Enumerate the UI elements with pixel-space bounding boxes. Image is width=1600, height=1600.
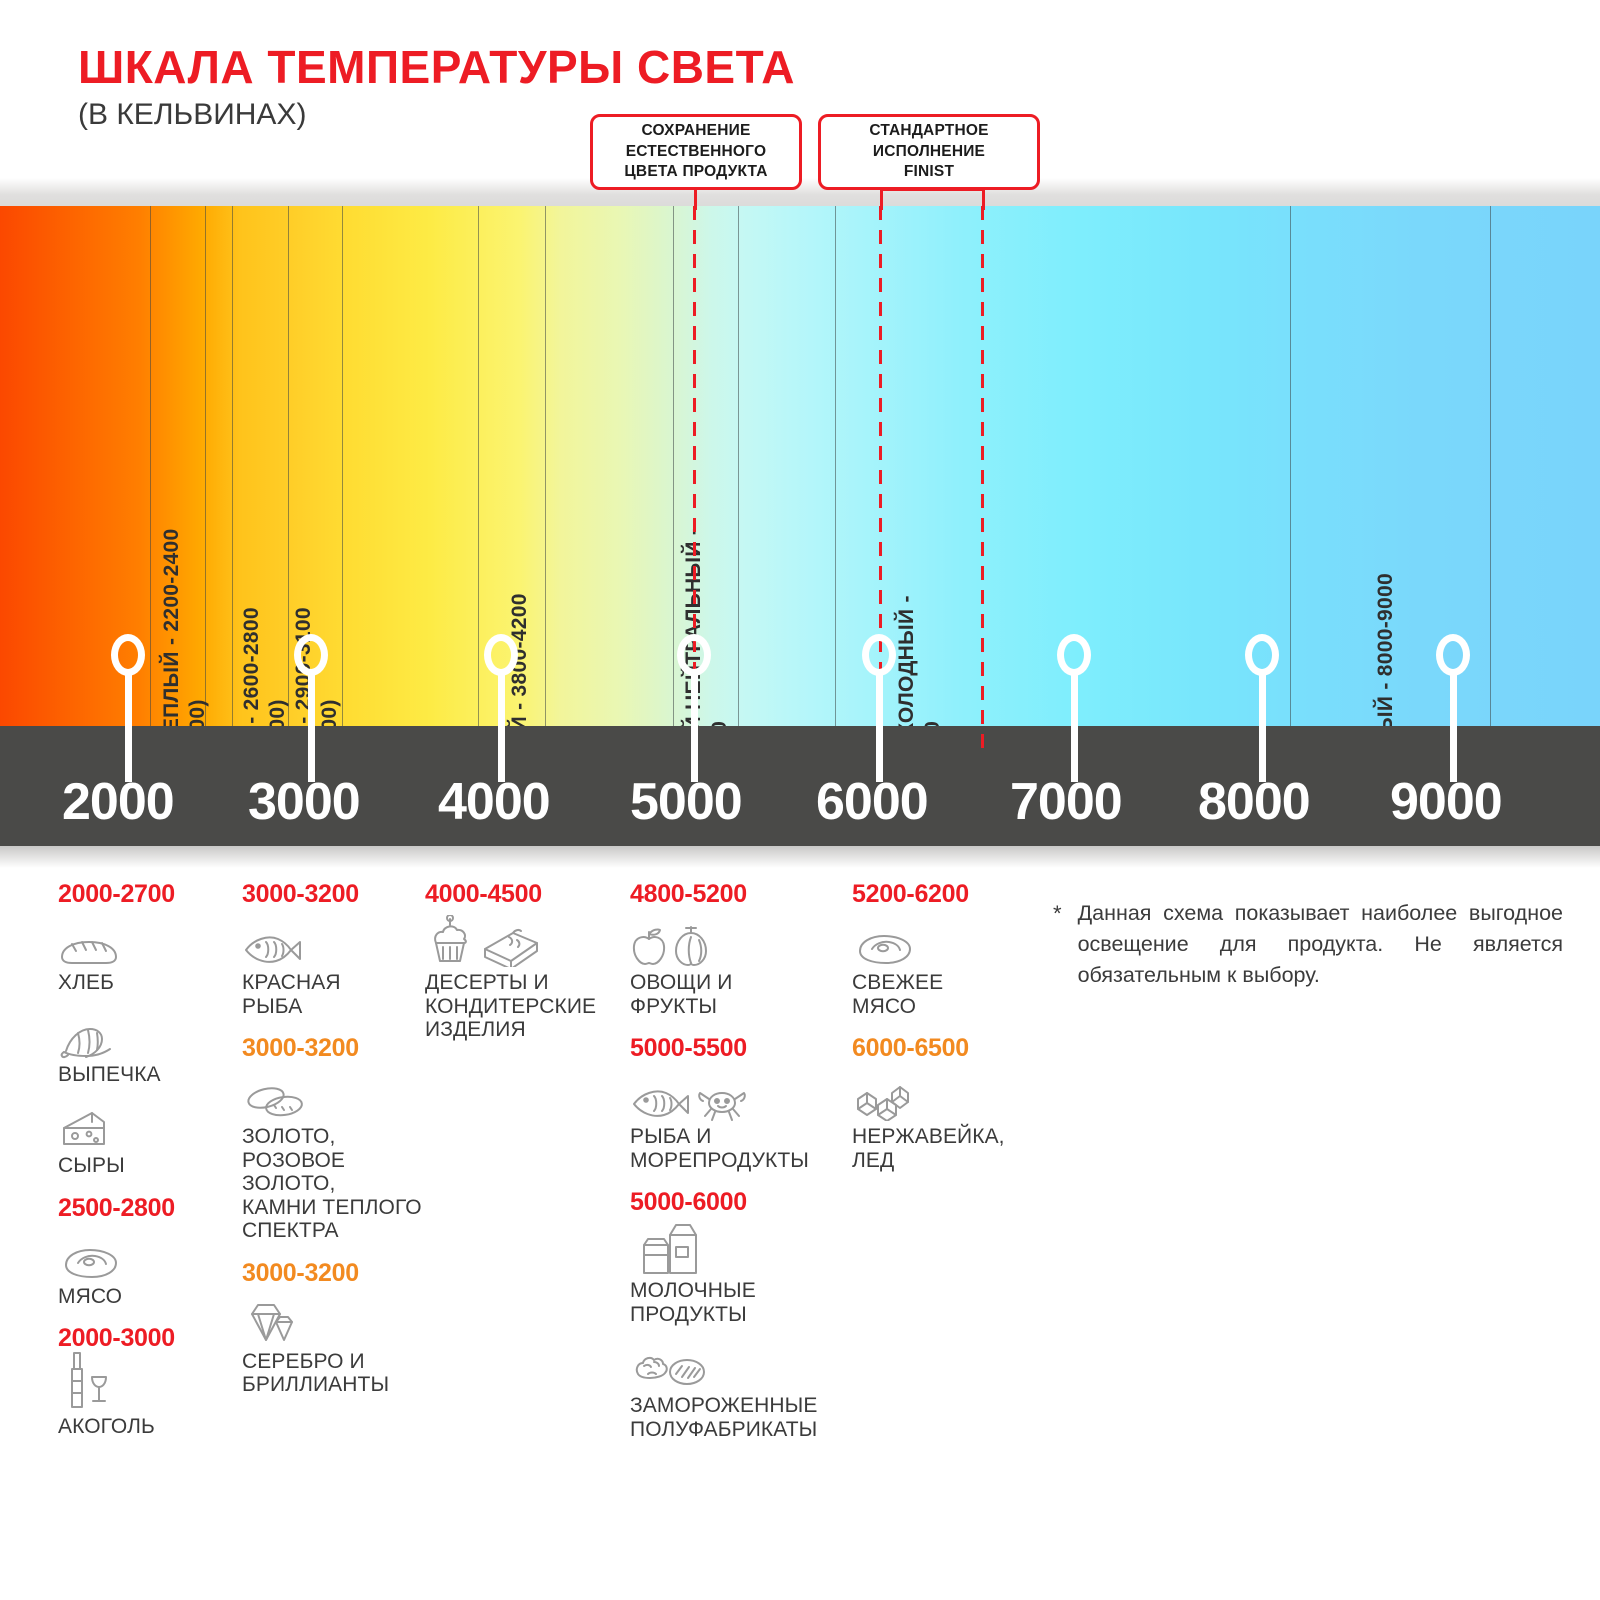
legend-group: 4000-4500ДЕСЕРТЫ И КОНДИТЕРСКИЕ ИЗДЕЛИЯ bbox=[425, 880, 625, 1042]
legend-item-icons bbox=[630, 1073, 855, 1121]
legend-item-icons bbox=[425, 919, 625, 967]
tick-label-6000: 6000 bbox=[816, 772, 928, 832]
legend-item: АКОГОЛЬ bbox=[58, 1363, 238, 1439]
zone-divider bbox=[150, 206, 151, 726]
callout-finist-standard-stem bbox=[880, 190, 883, 210]
pin-stem bbox=[1450, 672, 1457, 782]
callout-natural-color-stem bbox=[694, 190, 697, 210]
legend-group: 6000-6500НЕРЖАВЕЙКА, ЛЕД bbox=[852, 1034, 1042, 1172]
pin-stem bbox=[691, 672, 698, 782]
pin-ring-icon bbox=[1436, 634, 1470, 676]
tick-label-8000: 8000 bbox=[1198, 772, 1310, 832]
legend-item-icons bbox=[852, 1073, 1042, 1121]
legend-item-icons bbox=[242, 1073, 432, 1121]
legend-group-range: 5000-6000 bbox=[630, 1188, 855, 1217]
legend-item-label: ЗОЛОТО, РОЗОВОЕ ЗОЛОТО, КАМНИ ТЕПЛОГО СП… bbox=[242, 1125, 432, 1243]
pin-stem bbox=[498, 672, 505, 782]
fish-icon bbox=[242, 931, 304, 967]
legend-group-range: 4000-4500 bbox=[425, 880, 625, 909]
zone-divider bbox=[205, 206, 206, 726]
legend-item-icons bbox=[242, 1298, 432, 1346]
legend-column-3: 4000-4500ДЕСЕРТЫ И КОНДИТЕРСКИЕ ИЗДЕЛИЯ bbox=[425, 880, 625, 1058]
legend-item-label: ЗАМОРОЖЕННЫЕ ПОЛУФАБРИКАТЫ bbox=[630, 1394, 855, 1441]
legend-item-icons bbox=[852, 919, 1042, 967]
pin-ring-icon bbox=[111, 634, 145, 676]
legend-item-icons bbox=[630, 919, 855, 967]
pin-ring-icon bbox=[484, 634, 518, 676]
legend-item-icons bbox=[58, 919, 238, 967]
callout-natural-color-text: СОХРАНЕНИЕ ЕСТЕСТВЕННОГО ЦВЕТА ПРОДУКТА bbox=[624, 121, 767, 183]
bottle-glass-icon bbox=[58, 1349, 112, 1411]
footnote: * Данная схема показывает наиболее выгод… bbox=[1053, 898, 1563, 992]
frozen-food-icon bbox=[630, 1350, 708, 1390]
zone-divider bbox=[478, 206, 479, 726]
legend-item: ДЕСЕРТЫ И КОНДИТЕРСКИЕ ИЗДЕЛИЯ bbox=[425, 919, 625, 1042]
callout-finist-standard: СТАНДАРТНОЕ ИСПОЛНЕНИЕ FINIST bbox=[818, 114, 1040, 190]
legend-item-label: АКОГОЛЬ bbox=[58, 1415, 238, 1439]
legend-item-label: ВЫПЕЧКА bbox=[58, 1063, 238, 1087]
pin-stem bbox=[1071, 672, 1078, 782]
legend-column-5: 5200-6200СВЕЖЕЕ МЯСО6000-6500НЕРЖАВЕЙКА,… bbox=[852, 880, 1042, 1188]
tick-label-4000: 4000 bbox=[438, 772, 550, 832]
pin-ring-icon bbox=[1057, 634, 1091, 676]
zone-label-daylight-neutral-sub: 4800-5200 bbox=[708, 721, 732, 726]
marker-finist-end-6500 bbox=[981, 206, 984, 754]
pin-stem bbox=[125, 672, 132, 782]
legend-item-icons bbox=[58, 1102, 238, 1150]
kelvin-gradient-band: СУПЕР ТЕПЛЫЙ - 2200-2400 (тип К 2400) ТЕ… bbox=[0, 206, 1600, 726]
legend-group: 5000-6000МОЛОЧНЫЕ ПРОДУКТЫЗАМОРОЖЕННЫЕ П… bbox=[630, 1188, 855, 1441]
legend-item: МЯСО bbox=[58, 1233, 238, 1309]
zone-label-white-cold: БЕЛЫЙ ХОЛОДНЫЙ - bbox=[895, 595, 919, 726]
tick-label-5000: 5000 bbox=[630, 772, 742, 832]
legend-group-range: 4800-5200 bbox=[630, 880, 855, 909]
legend-item-icons bbox=[242, 919, 432, 967]
zone-label-cold: ХОЛОДНЫЙ - 8000-9000 bbox=[1374, 573, 1398, 726]
legend-item-icons bbox=[58, 1233, 238, 1281]
legend-group: 2500-2800МЯСО bbox=[58, 1194, 238, 1309]
legend-item-label: СЕРЕБРО И БРИЛЛИАНТЫ bbox=[242, 1350, 432, 1397]
legend-item: НЕРЖАВЕЙКА, ЛЕД bbox=[852, 1073, 1042, 1172]
legend-column-1: 2000-2700ХЛЕБВЫПЕЧКАСЫРЫ2500-2800МЯСО200… bbox=[58, 880, 238, 1455]
page-title: ШКАЛА ТЕМПЕРАТУРЫ СВЕТА bbox=[78, 40, 795, 94]
legend-item: ВЫПЕЧКА bbox=[58, 1011, 238, 1087]
zone-divider bbox=[288, 206, 289, 726]
cake-slice-icon bbox=[479, 925, 543, 967]
pin-ring-icon bbox=[862, 634, 896, 676]
legend-item-icons bbox=[58, 1363, 238, 1411]
footnote-text: Данная схема показывает наиболее выгодно… bbox=[1078, 898, 1563, 992]
legend-group: 5000-5500РЫБА И МОРЕПРОДУКТЫ bbox=[630, 1034, 855, 1172]
legend-group-range: 2000-2700 bbox=[58, 880, 238, 909]
legend-item-label: ОВОЩИ И ФРУКТЫ bbox=[630, 971, 855, 1018]
cheese-icon bbox=[58, 1108, 110, 1150]
bread-icon bbox=[58, 935, 120, 967]
zone-label-warm-3000-sub: (тип К 3000) bbox=[318, 699, 342, 726]
legend-item-label: РЫБА И МОРЕПРОДУКТЫ bbox=[630, 1125, 855, 1172]
legend-group: 5200-6200СВЕЖЕЕ МЯСО bbox=[852, 880, 1042, 1018]
tick-label-9000: 9000 bbox=[1390, 772, 1502, 832]
zone-divider bbox=[342, 206, 343, 726]
legend-group-range: 3000-3200 bbox=[242, 1259, 432, 1288]
zone-label-warm-2700: ТЕПЛЫЙ - 2600-2800 bbox=[240, 607, 264, 726]
zone-divider bbox=[1290, 206, 1291, 726]
legend-item-label: СЫРЫ bbox=[58, 1154, 238, 1178]
zone-label-warm-2700-sub: (тип К 2700) bbox=[266, 699, 290, 726]
legend-item-label: МЯСО bbox=[58, 1285, 238, 1309]
diamond-icon bbox=[242, 1298, 298, 1346]
cupcake-icon bbox=[425, 915, 475, 967]
legend-group: 3000-3200СЕРЕБРО И БРИЛЛИАНТЫ bbox=[242, 1259, 432, 1397]
steak-icon bbox=[852, 931, 916, 967]
ice-cubes-icon bbox=[852, 1081, 912, 1121]
page-subtitle: (В КЕЛЬВИНАХ) bbox=[78, 98, 306, 132]
tick-label-7000: 7000 bbox=[1010, 772, 1122, 832]
legend-item: ЗОЛОТО, РОЗОВОЕ ЗОЛОТО, КАМНИ ТЕПЛОГО СП… bbox=[242, 1073, 432, 1243]
legend-item-label: КРАСНАЯ РЫБА bbox=[242, 971, 432, 1018]
crab-icon bbox=[696, 1083, 748, 1121]
croissant-icon bbox=[58, 1021, 118, 1059]
zone-divider bbox=[673, 206, 674, 726]
apple-icon bbox=[630, 927, 668, 967]
legend-item: ОВОЩИ И ФРУКТЫ bbox=[630, 919, 855, 1018]
pin-ring-icon bbox=[677, 634, 711, 676]
pin-ring-icon bbox=[294, 634, 328, 676]
legend-item: РЫБА И МОРЕПРОДУКТЫ bbox=[630, 1073, 855, 1172]
zone-divider bbox=[1490, 206, 1491, 726]
pin-ring-icon bbox=[1245, 634, 1279, 676]
legend-group-range: 6000-6500 bbox=[852, 1034, 1042, 1063]
tick-label-2000: 2000 bbox=[62, 772, 174, 832]
zone-divider bbox=[232, 206, 233, 726]
legend-column-2: 3000-3200КРАСНАЯ РЫБА3000-3200ЗОЛОТО, РО… bbox=[242, 880, 432, 1413]
legend-group-range: 5000-5500 bbox=[630, 1034, 855, 1063]
legend-item: КРАСНАЯ РЫБА bbox=[242, 919, 432, 1018]
zone-label-super-warm-sub: (тип К 2400) bbox=[186, 699, 210, 726]
legend-item: МОЛОЧНЫЕ ПРОДУКТЫ bbox=[630, 1227, 855, 1326]
callout-finist-standard-stem-2 bbox=[982, 190, 985, 210]
pin-stem bbox=[308, 672, 315, 782]
legend-group-range: 2500-2800 bbox=[58, 1194, 238, 1223]
legend-group: 4800-5200ОВОЩИ И ФРУКТЫ bbox=[630, 880, 855, 1018]
legend-item-label: НЕРЖАВЕЙКА, ЛЕД bbox=[852, 1125, 1042, 1172]
zone-divider bbox=[545, 206, 546, 726]
legend-item-icons bbox=[630, 1342, 855, 1390]
legend-item-label: ДЕСЕРТЫ И КОНДИТЕРСКИЕ ИЗДЕЛИЯ bbox=[425, 971, 625, 1042]
rings-icon bbox=[242, 1081, 308, 1121]
pepper-icon bbox=[672, 923, 710, 967]
legend-group: 2000-2700ХЛЕБВЫПЕЧКАСЫРЫ bbox=[58, 880, 238, 1178]
legend-item-label: ХЛЕБ bbox=[58, 971, 238, 995]
legend-item-icons bbox=[58, 1011, 238, 1059]
legend-item-label: СВЕЖЕЕ МЯСО bbox=[852, 971, 1042, 1018]
kelvin-scale-bar bbox=[0, 726, 1600, 846]
legend-item-label: МОЛОЧНЫЕ ПРОДУКТЫ bbox=[630, 1279, 855, 1326]
legend-column-4: 4800-5200ОВОЩИ И ФРУКТЫ5000-5500РЫБА И М… bbox=[630, 880, 855, 1457]
pin-stem bbox=[1259, 672, 1266, 782]
fish-icon bbox=[630, 1085, 692, 1121]
tick-label-3000: 3000 bbox=[248, 772, 360, 832]
legend-item: ЗАМОРОЖЕННЫЕ ПОЛУФАБРИКАТЫ bbox=[630, 1342, 855, 1441]
legend-group: 2000-3000АКОГОЛЬ bbox=[58, 1324, 238, 1439]
legend-item-icons bbox=[630, 1227, 855, 1275]
steak-icon bbox=[58, 1245, 122, 1281]
legend-item: СЕРЕБРО И БРИЛЛИАНТЫ bbox=[242, 1298, 432, 1397]
zone-divider bbox=[738, 206, 739, 726]
legend-group-range: 3000-3200 bbox=[242, 1034, 432, 1063]
legend-group: 3000-3200ЗОЛОТО, РОЗОВОЕ ЗОЛОТО, КАМНИ Т… bbox=[242, 1034, 432, 1243]
legend-group-range: 3000-3200 bbox=[242, 880, 432, 909]
legend-group: 3000-3200КРАСНАЯ РЫБА bbox=[242, 880, 432, 1018]
callout-finist-standard-text: СТАНДАРТНОЕ ИСПОЛНЕНИЕ FINIST bbox=[869, 121, 988, 183]
zone-label-white-cold-sub: 5800-6500 bbox=[921, 721, 945, 726]
legend-item: ХЛЕБ bbox=[58, 919, 238, 995]
scale-bar-shadow bbox=[0, 846, 1600, 868]
footnote-marker: * bbox=[1053, 898, 1062, 992]
legend-item: СВЕЖЕЕ МЯСО bbox=[852, 919, 1042, 1018]
callout-natural-color: СОХРАНЕНИЕ ЕСТЕСТВЕННОГО ЦВЕТА ПРОДУКТА bbox=[590, 114, 802, 190]
legend-item: СЫРЫ bbox=[58, 1102, 238, 1178]
zone-label-super-warm: СУПЕР ТЕПЛЫЙ - 2200-2400 bbox=[160, 529, 184, 727]
zone-divider bbox=[835, 206, 836, 726]
legend-group-range: 5200-6200 bbox=[852, 880, 1042, 909]
milk-carton-icon bbox=[630, 1219, 710, 1275]
pin-stem bbox=[876, 672, 883, 782]
